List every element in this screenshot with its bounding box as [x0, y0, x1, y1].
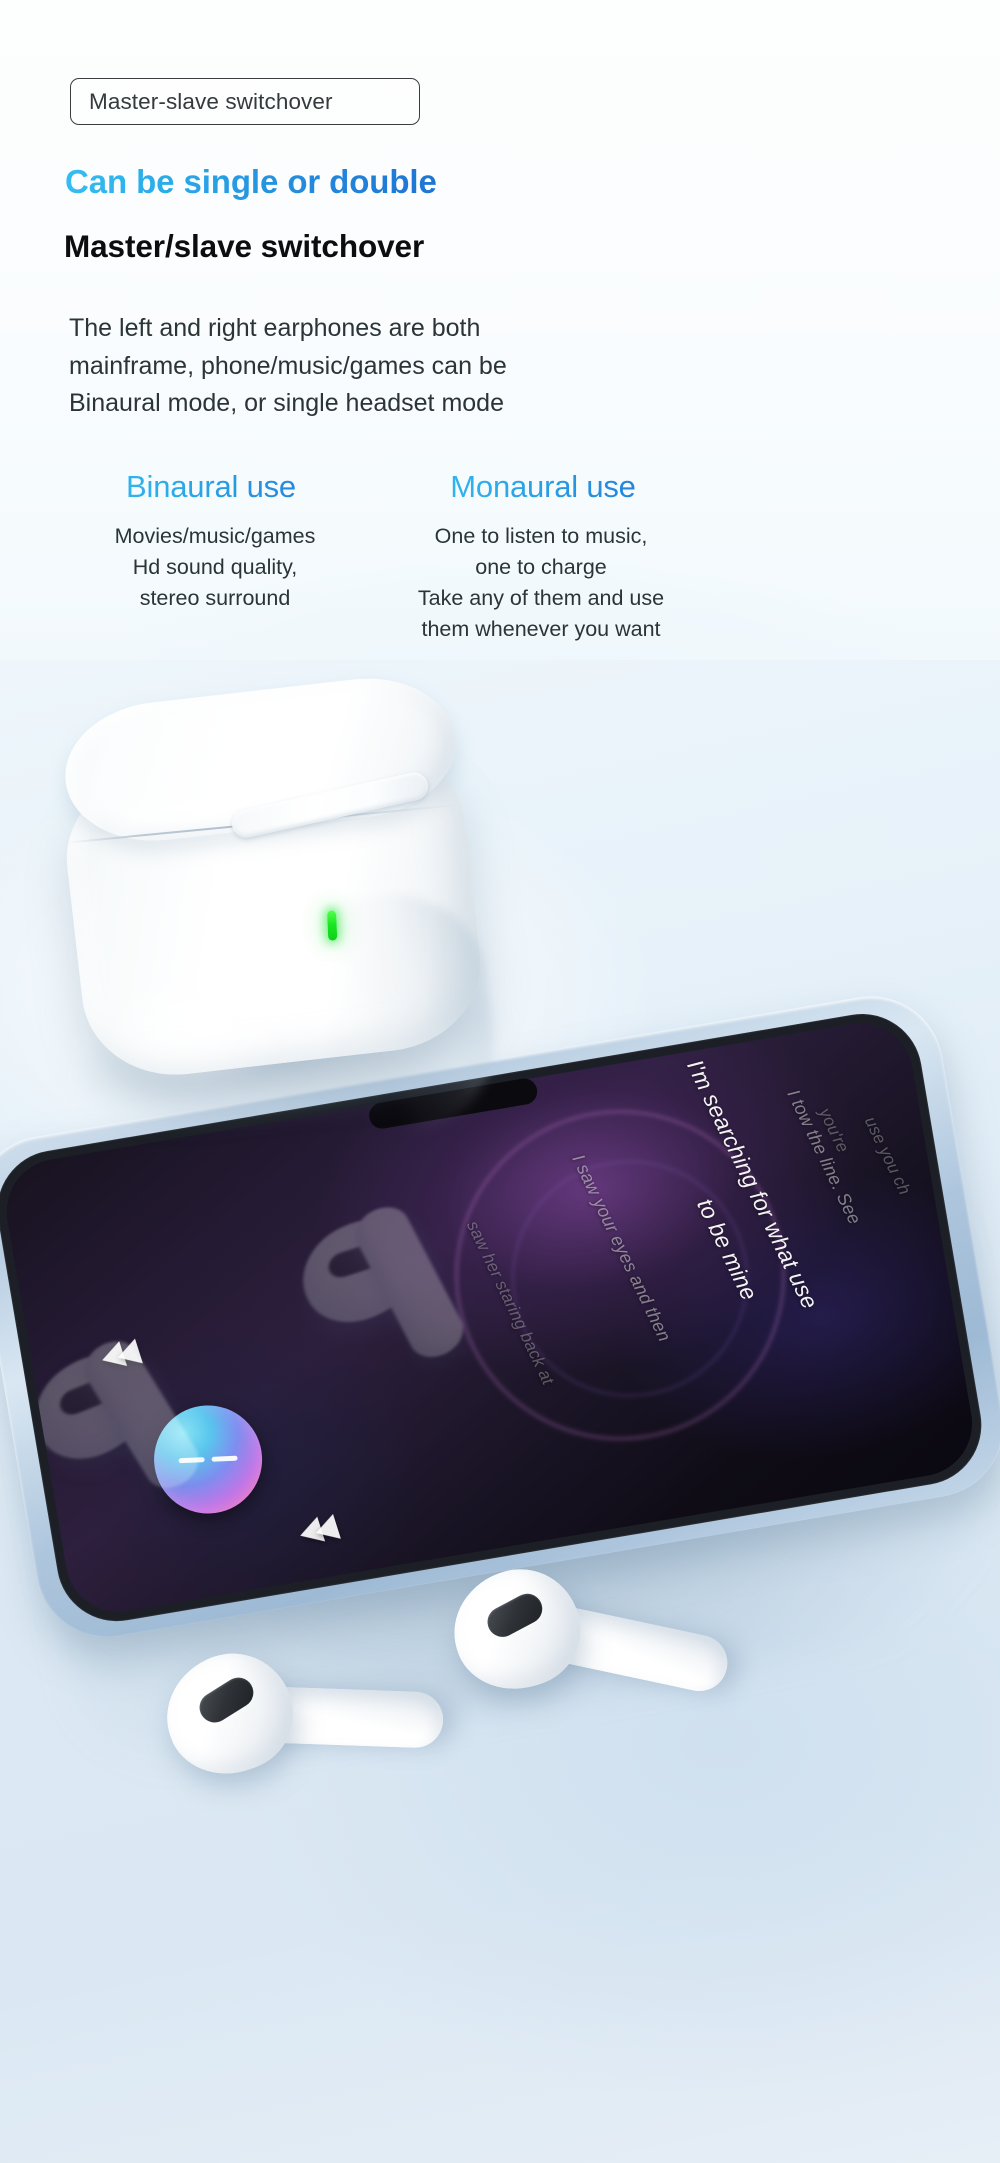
product-photo: you're use you ch I tow the line. See I'… — [0, 660, 1000, 2163]
case-highlight-lower — [107, 967, 298, 1097]
product-promo-page: Master-slave switchover Can be single or… — [0, 0, 1000, 2163]
charging-indicator-led — [327, 910, 337, 940]
mode-body-line: Movies/music/games — [58, 521, 372, 552]
mode-columns: Binaural use Movies/music/games Hd sound… — [58, 465, 698, 645]
page-title: Master/slave switchover — [64, 228, 424, 265]
mode-body-line: Hd sound quality, — [58, 552, 372, 583]
mode-body-line: them whenever you want — [384, 614, 698, 645]
mode-body-monaural: One to listen to music, one to charge Ta… — [384, 521, 698, 645]
mode-column-binaural: Binaural use Movies/music/games Hd sound… — [58, 465, 378, 645]
earbud-mesh-grille — [482, 1588, 547, 1642]
mode-body-line: Take any of them and use — [384, 583, 698, 614]
section-badge-label: Master-slave switchover — [89, 89, 333, 115]
mode-body-line: stereo surround — [58, 583, 372, 614]
headline-eyebrow: Can be single or double — [65, 163, 437, 201]
lyric-line: use you ch — [860, 1114, 914, 1199]
mode-body-binaural: Movies/music/games Hd sound quality, ste… — [58, 521, 372, 614]
charging-case — [49, 660, 531, 1102]
section-badge: Master-slave switchover — [70, 78, 420, 125]
lyric-line: I tow the line. See — [783, 1086, 865, 1228]
description-line-3: Binaural mode, or single headset mode — [69, 385, 689, 423]
mode-column-monaural: Monaural use One to listen to music, one… — [378, 465, 698, 645]
mode-body-line: one to charge — [384, 552, 698, 583]
description-line-1: The left and right earphones are both — [69, 310, 689, 348]
earbud-mesh-grille — [194, 1672, 259, 1728]
mode-title-monaural: Monaural use — [384, 465, 698, 509]
description-paragraph: The left and right earphones are both ma… — [69, 310, 689, 423]
mode-body-line: One to listen to music, — [384, 521, 698, 552]
description-line-2: mainframe, phone/music/games can be — [69, 348, 689, 386]
mode-title-binaural: Binaural use — [58, 465, 372, 509]
